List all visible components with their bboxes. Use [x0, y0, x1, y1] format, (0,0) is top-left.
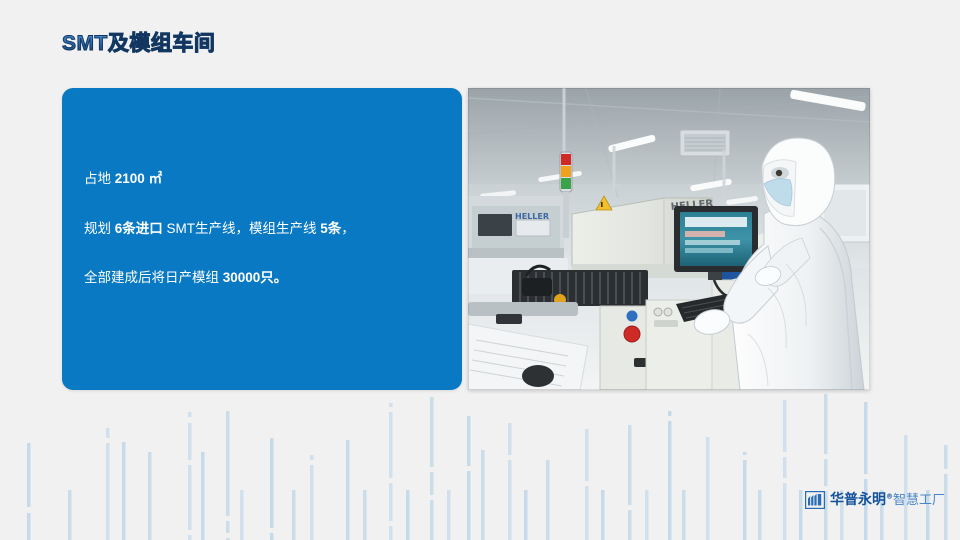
decorative-bar	[645, 490, 649, 540]
foreground-conveyor	[468, 302, 588, 390]
decorative-bar	[122, 442, 126, 540]
decorative-bar	[389, 403, 393, 407]
decorative-bar	[682, 490, 686, 540]
bar-pattern-svg	[0, 390, 960, 540]
decorative-bar	[188, 412, 192, 417]
decorative-bar	[148, 452, 152, 540]
decorative-bar	[406, 490, 410, 540]
svg-text:HELLER: HELLER	[515, 212, 549, 221]
decorative-bar	[524, 490, 528, 540]
decorative-bar	[783, 400, 787, 452]
decorative-bar	[585, 486, 589, 540]
decorative-bar	[668, 421, 672, 540]
decorative-bar	[743, 452, 747, 455]
decorative-bar	[270, 533, 274, 540]
decorative-bar	[389, 526, 393, 540]
decorative-bar	[363, 490, 367, 540]
decorative-bar	[226, 521, 230, 533]
decorative-bar	[447, 490, 451, 540]
info-panel: 占地 2100 ㎡规划 6条进口 SMT生产线，模组生产线 5条，全部建成后将日…	[62, 88, 462, 390]
decorative-bar	[27, 443, 31, 507]
decorative-bar	[758, 490, 762, 540]
decorative-bar	[628, 510, 632, 540]
info-text-run: SMT生产线，模组生产线	[163, 221, 321, 236]
decorative-bar	[743, 460, 747, 540]
info-text-run: ，	[341, 221, 355, 236]
decorative-bar	[201, 452, 205, 540]
logo-brand-text: 华普永明®	[830, 493, 893, 507]
decorative-bar	[546, 460, 550, 540]
decorative-bar	[467, 471, 471, 540]
decorative-bar	[240, 490, 244, 540]
decorative-bar	[601, 490, 605, 540]
decorative-bar	[188, 465, 192, 530]
info-text-run: 5条	[320, 221, 341, 236]
decorative-bar	[188, 535, 192, 540]
factory-mark-icon	[805, 491, 825, 509]
decorative-bar	[904, 435, 908, 540]
decorative-bar	[628, 425, 632, 505]
decorative-bar	[106, 428, 110, 438]
info-text-run: 2100	[115, 171, 145, 186]
logo-brand-name: 华普永明	[830, 492, 886, 508]
decorative-bar	[430, 472, 434, 495]
decorative-bar	[783, 483, 787, 540]
decorative-bar	[310, 465, 314, 540]
decorative-bar	[706, 437, 710, 540]
cleanroom-photo-illustration: HELLER HELLER	[468, 88, 870, 390]
decorative-bar	[106, 443, 110, 540]
decorative-bar-pattern	[0, 390, 960, 540]
decorative-bar	[508, 460, 512, 540]
logo-sub-text: 智慧工厂	[893, 494, 945, 507]
info-text-run: 占地	[84, 171, 115, 186]
info-line-daily-output: 全部建成后将日产模组 30000只。	[84, 271, 448, 285]
cleanroom-photo: HELLER HELLER	[468, 88, 870, 390]
decorative-bar	[68, 490, 72, 540]
info-text-run: ㎡	[145, 171, 162, 186]
info-line-lines-planned: 规划 6条进口 SMT生产线，模组生产线 5条，	[84, 222, 448, 236]
registered-mark: ®	[886, 492, 893, 500]
info-text-run: 6条进口	[115, 221, 163, 236]
decorative-bar	[226, 411, 230, 516]
info-text-run: 全部建成后将日产模组	[84, 270, 223, 285]
decorative-bar	[389, 483, 393, 521]
decorative-bar	[864, 402, 868, 474]
decorative-bar	[188, 423, 192, 460]
info-text-run: 30000只。	[223, 270, 288, 285]
info-text-run: 规划	[84, 221, 115, 236]
info-panel-text: 占地 2100 ㎡规划 6条进口 SMT生产线，模组生产线 5条，全部建成后将日…	[84, 172, 448, 285]
slide-canvas: SMT及模组车间 占地 2100 ㎡规划 6条进口 SMT生产线，模组生产线 5…	[0, 0, 960, 540]
decorative-bar	[389, 412, 393, 478]
decorative-bar	[824, 394, 828, 454]
decorative-bar	[430, 397, 434, 467]
decorative-bar	[508, 423, 512, 455]
decorative-bar	[310, 455, 314, 460]
info-line-area: 占地 2100 ㎡	[84, 172, 448, 186]
decorative-bar	[824, 459, 828, 486]
brand-logo: 华普永明® 智慧工厂	[805, 489, 945, 511]
page-title: SMT及模组车间	[62, 33, 215, 54]
decorative-bar	[346, 440, 350, 540]
decorative-bar	[585, 429, 589, 481]
decorative-bar	[270, 438, 274, 528]
decorative-bar	[799, 490, 803, 540]
decorative-bar	[430, 500, 434, 540]
decorative-bar	[783, 457, 787, 478]
decorative-bar	[481, 450, 485, 540]
decorative-bar	[292, 490, 296, 540]
decorative-bar	[467, 416, 471, 466]
decorative-bar	[668, 411, 672, 416]
decorative-bar	[27, 513, 31, 540]
decorative-bar	[944, 445, 948, 469]
